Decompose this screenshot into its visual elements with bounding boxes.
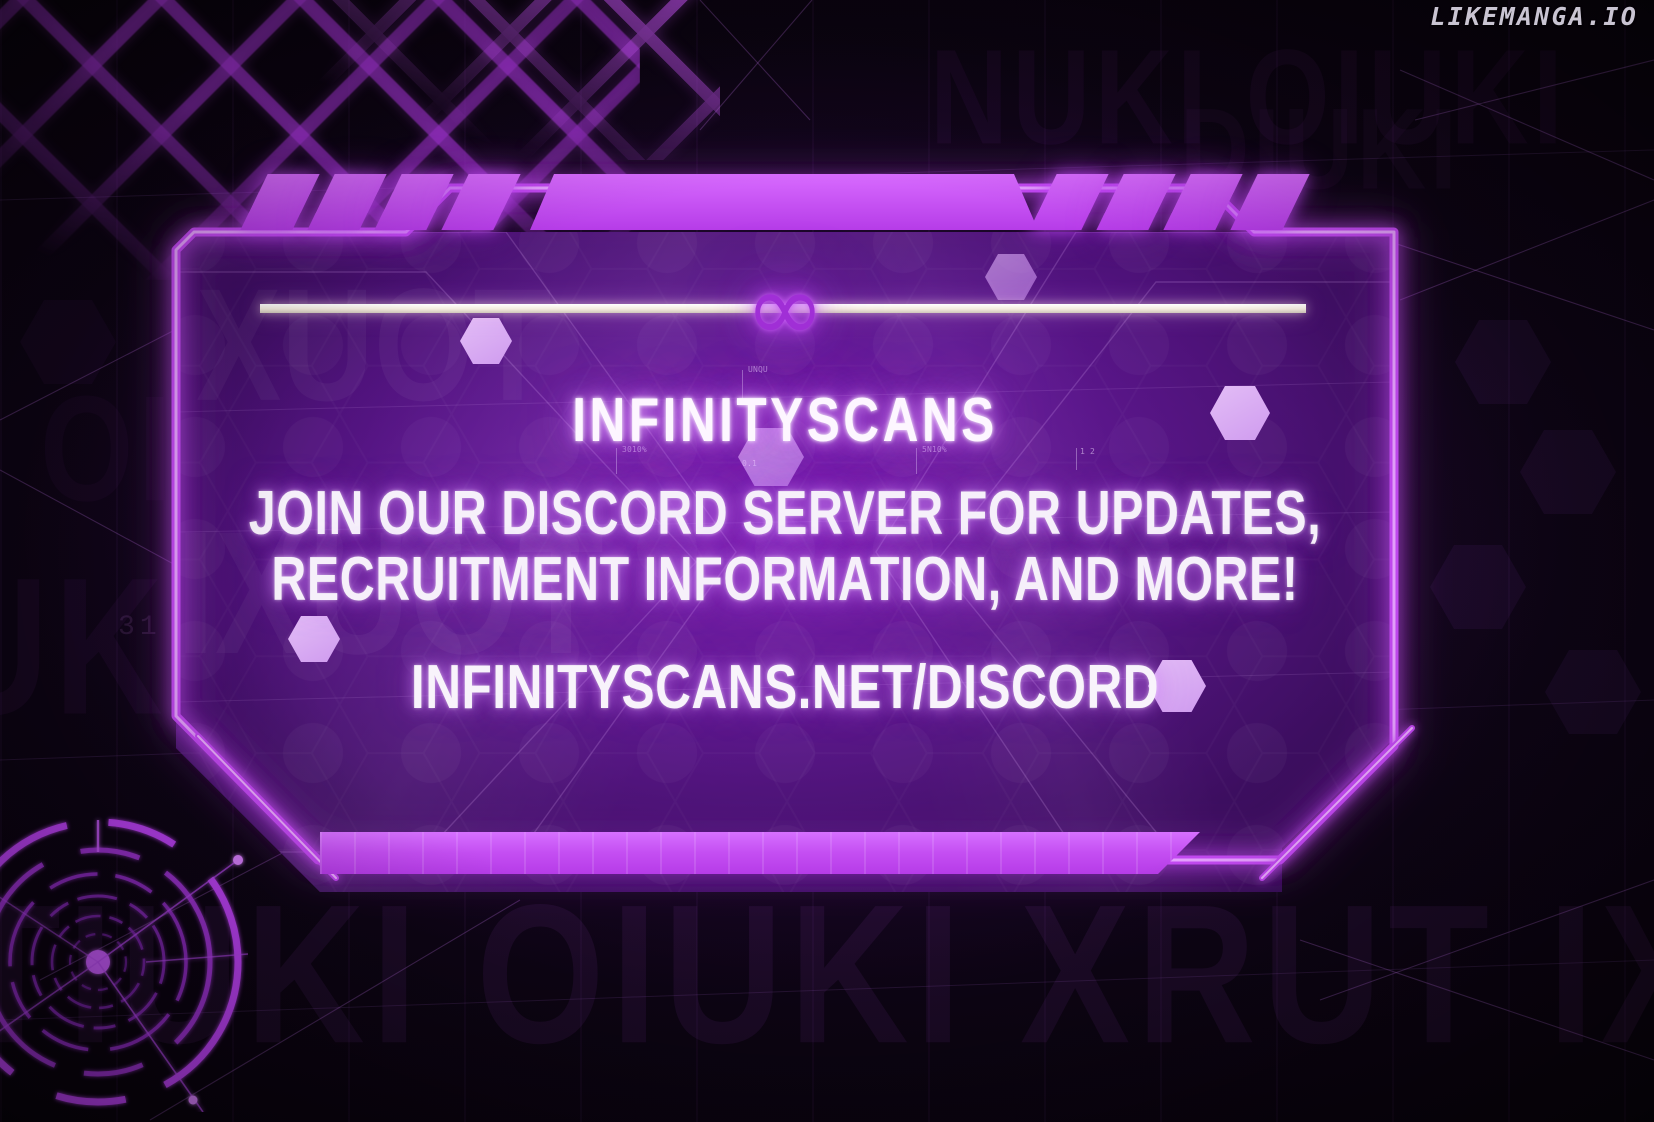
- background-hexagon: [1520, 430, 1616, 514]
- background-hexagon: [1455, 320, 1551, 404]
- panel-content: ∞ UNQU 3010% 5N10% 0.1 1 2 INFINITYSCANS…: [150, 160, 1420, 920]
- body-line-2: RECRUITMENT INFORMATION, AND MORE!: [271, 544, 1298, 615]
- crosshatch-pattern-bright: [300, 0, 720, 160]
- body-line-1: JOIN OUR DISCORD SERVER FOR UPDATES,: [249, 478, 1321, 549]
- hud-panel: XUOT IXUOT: [150, 160, 1420, 920]
- micro-tick: [1076, 448, 1077, 470]
- site-watermark: LIKEMANGA.IO: [1430, 2, 1638, 31]
- background-ghost-text-1: NUKI OIUKI: [930, 18, 1567, 174]
- background-hexagon: [1545, 650, 1641, 734]
- infinity-logo-icon: ∞: [745, 260, 825, 356]
- poster-canvas: NUKI OIUKI DIUKI OIUKI UKI OTUK TIUKI OI…: [0, 0, 1654, 1122]
- background-hexagon: [1430, 545, 1526, 629]
- micro-hud-text: 1 2: [1080, 448, 1095, 456]
- brand-title: INFINITYSCANS: [572, 385, 997, 456]
- micro-hud-text: 0.1: [742, 460, 757, 468]
- discord-url[interactable]: INFINITYSCANS.NET/DISCORD: [411, 652, 1159, 723]
- micro-hud-text: UNQU: [748, 366, 768, 374]
- background-hexagon: [20, 300, 116, 384]
